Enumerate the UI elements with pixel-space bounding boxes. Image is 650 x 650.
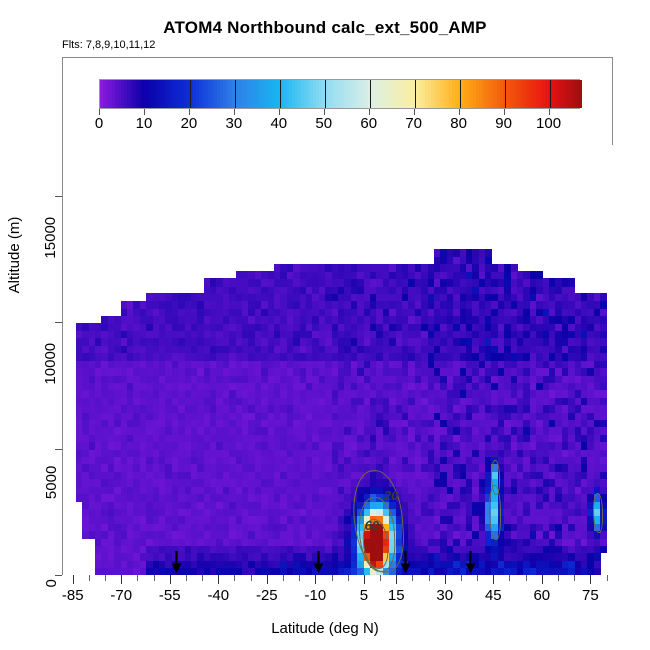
contour-label-60: 60: [365, 518, 379, 533]
x-axis-tick-major: [315, 575, 316, 584]
y-axis-tick: [55, 575, 62, 576]
x-axis-tick-major: [73, 575, 74, 584]
x-axis-tick-major: [267, 575, 268, 584]
x-axis-tick-minor: [283, 575, 284, 581]
x-axis-tick-minor: [380, 575, 381, 581]
flights-label: Flts: 7,8,9,10,11,12: [62, 39, 155, 51]
x-axis-tick-label: 45: [485, 587, 502, 604]
x-axis-tick-major: [121, 575, 122, 584]
x-axis-tick-major: [364, 575, 365, 584]
contour-label-20: 20: [384, 488, 398, 503]
x-axis-tick-major: [218, 575, 219, 584]
heatmap-plot-area[interactable]: 2060: [63, 145, 613, 575]
x-axis-tick-major: [590, 575, 591, 584]
x-axis-tick-minor: [412, 575, 413, 581]
y-axis-tick: [55, 322, 62, 323]
colorbar-tick-label: 0: [95, 115, 103, 132]
x-axis-tick-minor: [558, 575, 559, 581]
x-axis: -85-70-55-40-25-1051530456075: [63, 575, 613, 615]
x-axis-tick-label: 5: [360, 587, 368, 604]
colorbar-gradient: [99, 79, 580, 109]
x-axis-tick-label: 30: [436, 587, 453, 604]
profile-arrow-marker: [171, 551, 182, 573]
x-axis-tick-label: 75: [582, 587, 599, 604]
y-axis-tick: [55, 196, 62, 197]
profile-arrow-marker: [465, 551, 476, 573]
colorbar[interactable]: 0102030405060708090100: [99, 79, 580, 109]
y-axis-tick-label: 5000: [43, 465, 60, 498]
y-axis-title: Altitude (m): [6, 217, 23, 294]
heatmap-cells: [63, 145, 613, 575]
x-axis-tick-label: -10: [305, 587, 327, 604]
x-axis-tick-major: [396, 575, 397, 584]
x-axis-tick-minor: [202, 575, 203, 581]
colorbar-tick-label: 70: [405, 115, 422, 132]
colorbar-tick-label: 60: [360, 115, 377, 132]
page-title: ATOM4 Northbound calc_ext_500_AMP: [0, 18, 650, 38]
colorbar-tick-label: 30: [226, 115, 243, 132]
y-axis: 050001000015000: [62, 145, 63, 575]
x-axis-tick-label: -40: [207, 587, 229, 604]
x-axis-tick-major: [170, 575, 171, 584]
x-axis-tick-minor: [105, 575, 106, 581]
colorbar-tick-label: 90: [495, 115, 512, 132]
x-axis-tick-major: [445, 575, 446, 584]
profile-arrow-marker: [400, 551, 411, 573]
x-axis-tick-minor: [137, 575, 138, 581]
colorbar-tick-label: 80: [450, 115, 467, 132]
x-axis-tick-minor: [186, 575, 187, 581]
x-axis-tick-minor: [299, 575, 300, 581]
x-axis-tick-label: 15: [388, 587, 405, 604]
y-axis-tick-label: 15000: [43, 216, 60, 258]
x-axis-tick-label: 60: [533, 587, 550, 604]
colorbar-tick-label: 100: [536, 115, 561, 132]
x-axis-tick-minor: [429, 575, 430, 581]
y-axis-tick-label: 0: [43, 579, 60, 587]
x-axis-tick-minor: [461, 575, 462, 581]
profile-arrow-marker: [313, 551, 324, 573]
x-axis-tick-minor: [234, 575, 235, 581]
x-axis-tick-minor: [154, 575, 155, 581]
colorbar-tick-label: 40: [270, 115, 287, 132]
x-axis-tick-minor: [348, 575, 349, 581]
y-axis-tick-label: 10000: [43, 343, 60, 385]
y-axis-tick: [55, 449, 62, 450]
x-axis-tick-label: -55: [159, 587, 181, 604]
x-axis-tick-major: [542, 575, 543, 584]
colorbar-tick-label: 20: [181, 115, 198, 132]
x-axis-tick-minor: [607, 575, 608, 581]
x-axis-tick-minor: [526, 575, 527, 581]
x-axis-tick-label: -70: [110, 587, 132, 604]
x-axis-tick-minor: [251, 575, 252, 581]
x-axis-tick-minor: [574, 575, 575, 581]
colorbar-tick-label: 50: [315, 115, 332, 132]
x-axis-tick-label: -85: [62, 587, 84, 604]
x-axis-tick-minor: [332, 575, 333, 581]
x-axis-tick-label: -25: [256, 587, 278, 604]
contour-ring-arctic: [593, 493, 603, 533]
x-axis-tick-minor: [89, 575, 90, 581]
x-axis-title: Latitude (deg N): [0, 620, 650, 637]
x-axis-tick-minor: [477, 575, 478, 581]
colorbar-tick-label: 10: [136, 115, 153, 132]
x-axis-tick-major: [493, 575, 494, 584]
x-axis-tick-minor: [509, 575, 510, 581]
contour-ring-midlat-upper: [491, 460, 500, 495]
